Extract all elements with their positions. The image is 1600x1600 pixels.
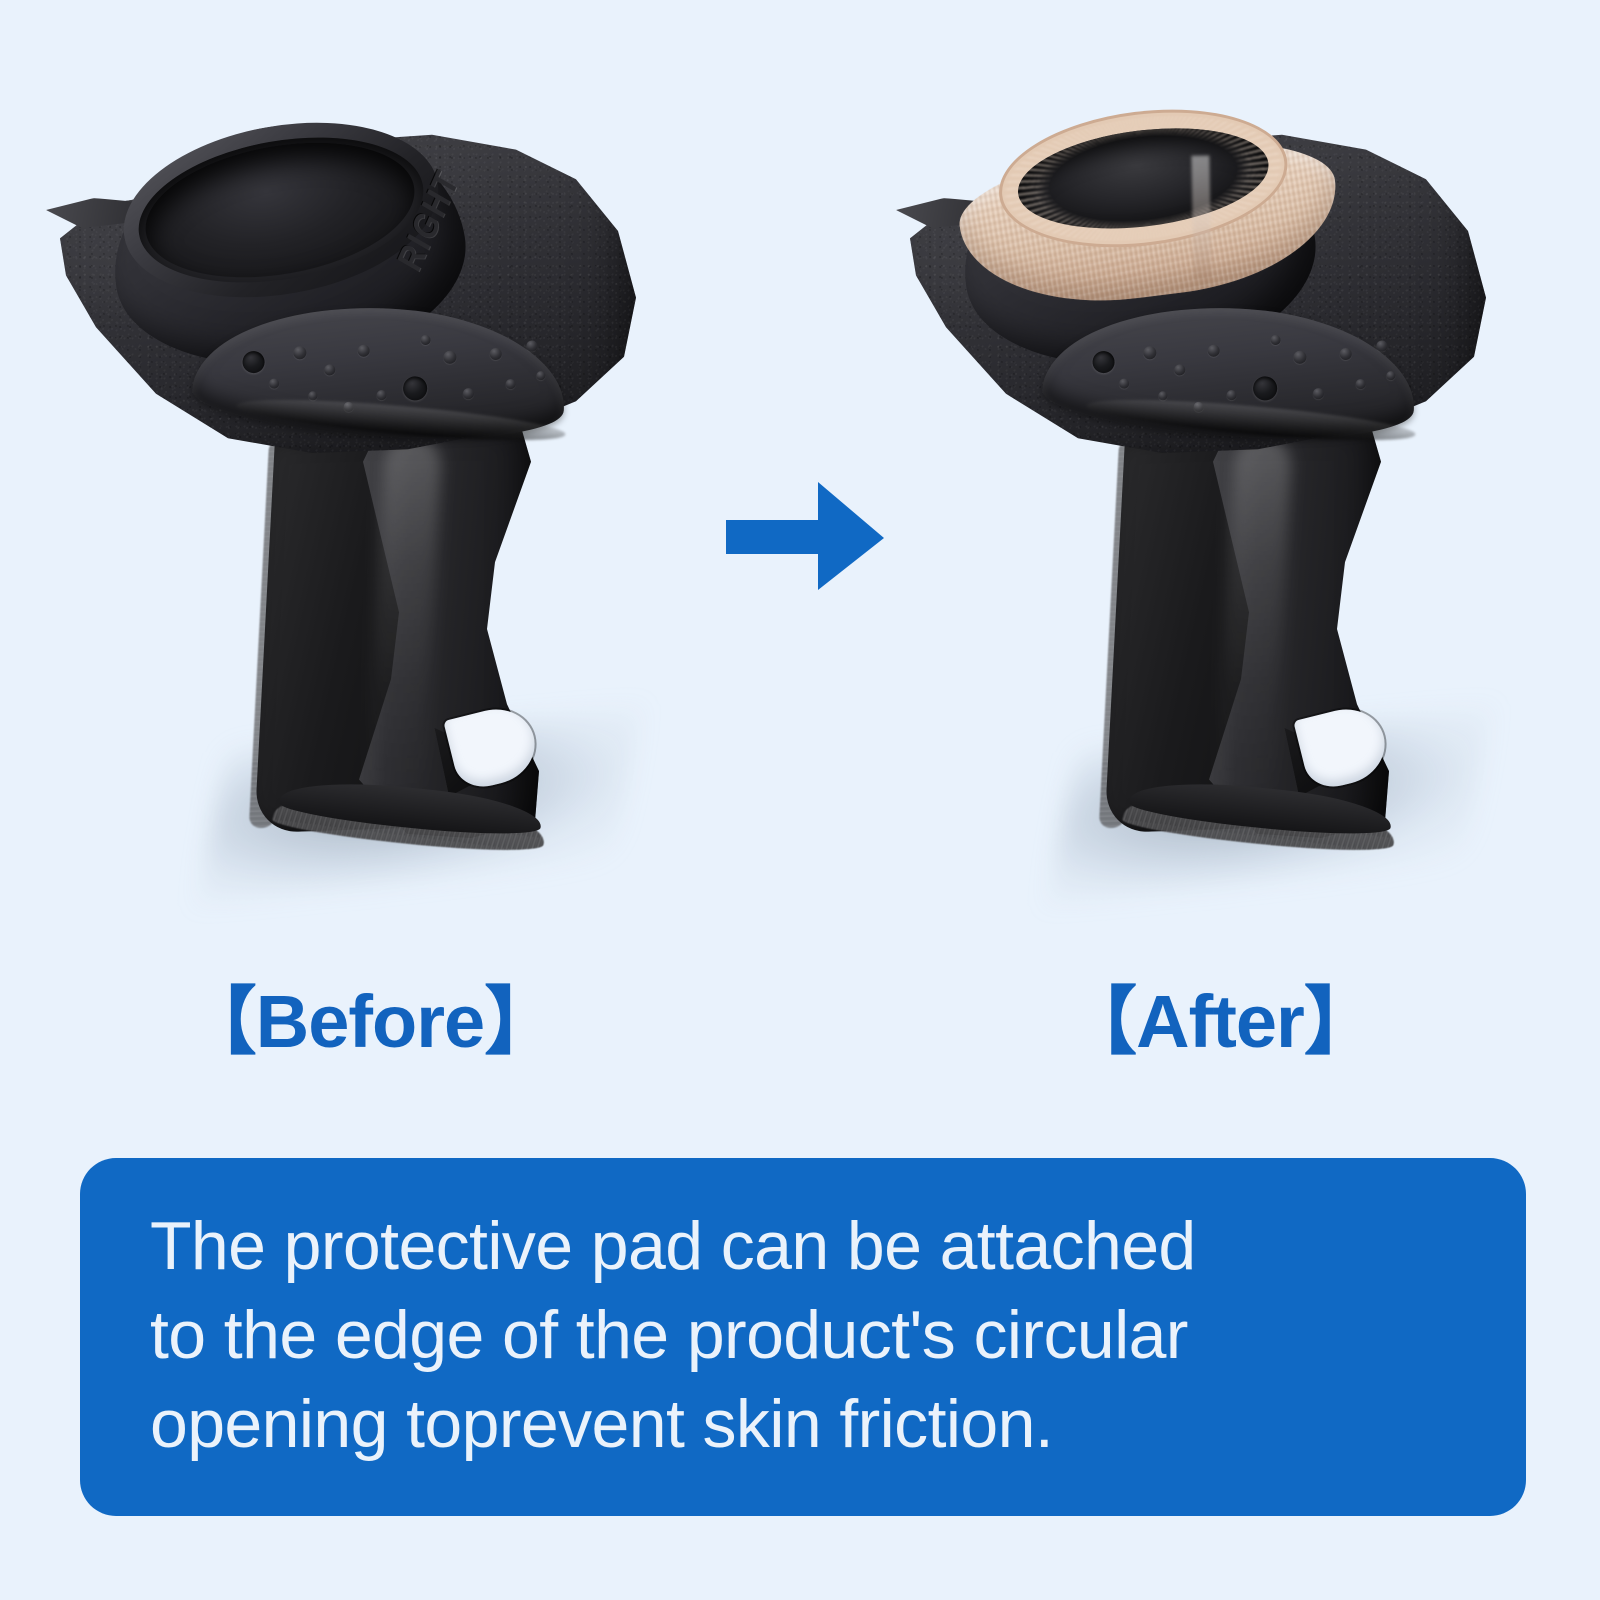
caption-line: The protective pad can be attached <box>150 1202 1468 1291</box>
fleece-seam <box>1191 155 1211 279</box>
product-image-after <box>890 90 1550 910</box>
product-comparison-page: RIGHT <box>0 0 1600 1600</box>
caption-banner: The protective pad can be attached to th… <box>80 1158 1526 1516</box>
heel-brace-before: RIGHT <box>40 90 700 910</box>
label-before: 【Before】 <box>40 962 700 1069</box>
arrow-right-icon <box>726 482 884 590</box>
heel-brace-after <box>890 90 1550 910</box>
product-image-before: RIGHT <box>40 90 700 910</box>
caption-text: The protective pad can be attached to th… <box>150 1202 1468 1469</box>
label-after: 【After】 <box>890 962 1550 1069</box>
brace-shell-after <box>898 120 1498 510</box>
brace-shell-before: RIGHT <box>48 120 648 510</box>
caption-line: opening toprevent skin friction. <box>150 1380 1468 1469</box>
caption-line: to the edge of the product's circular <box>150 1291 1468 1380</box>
